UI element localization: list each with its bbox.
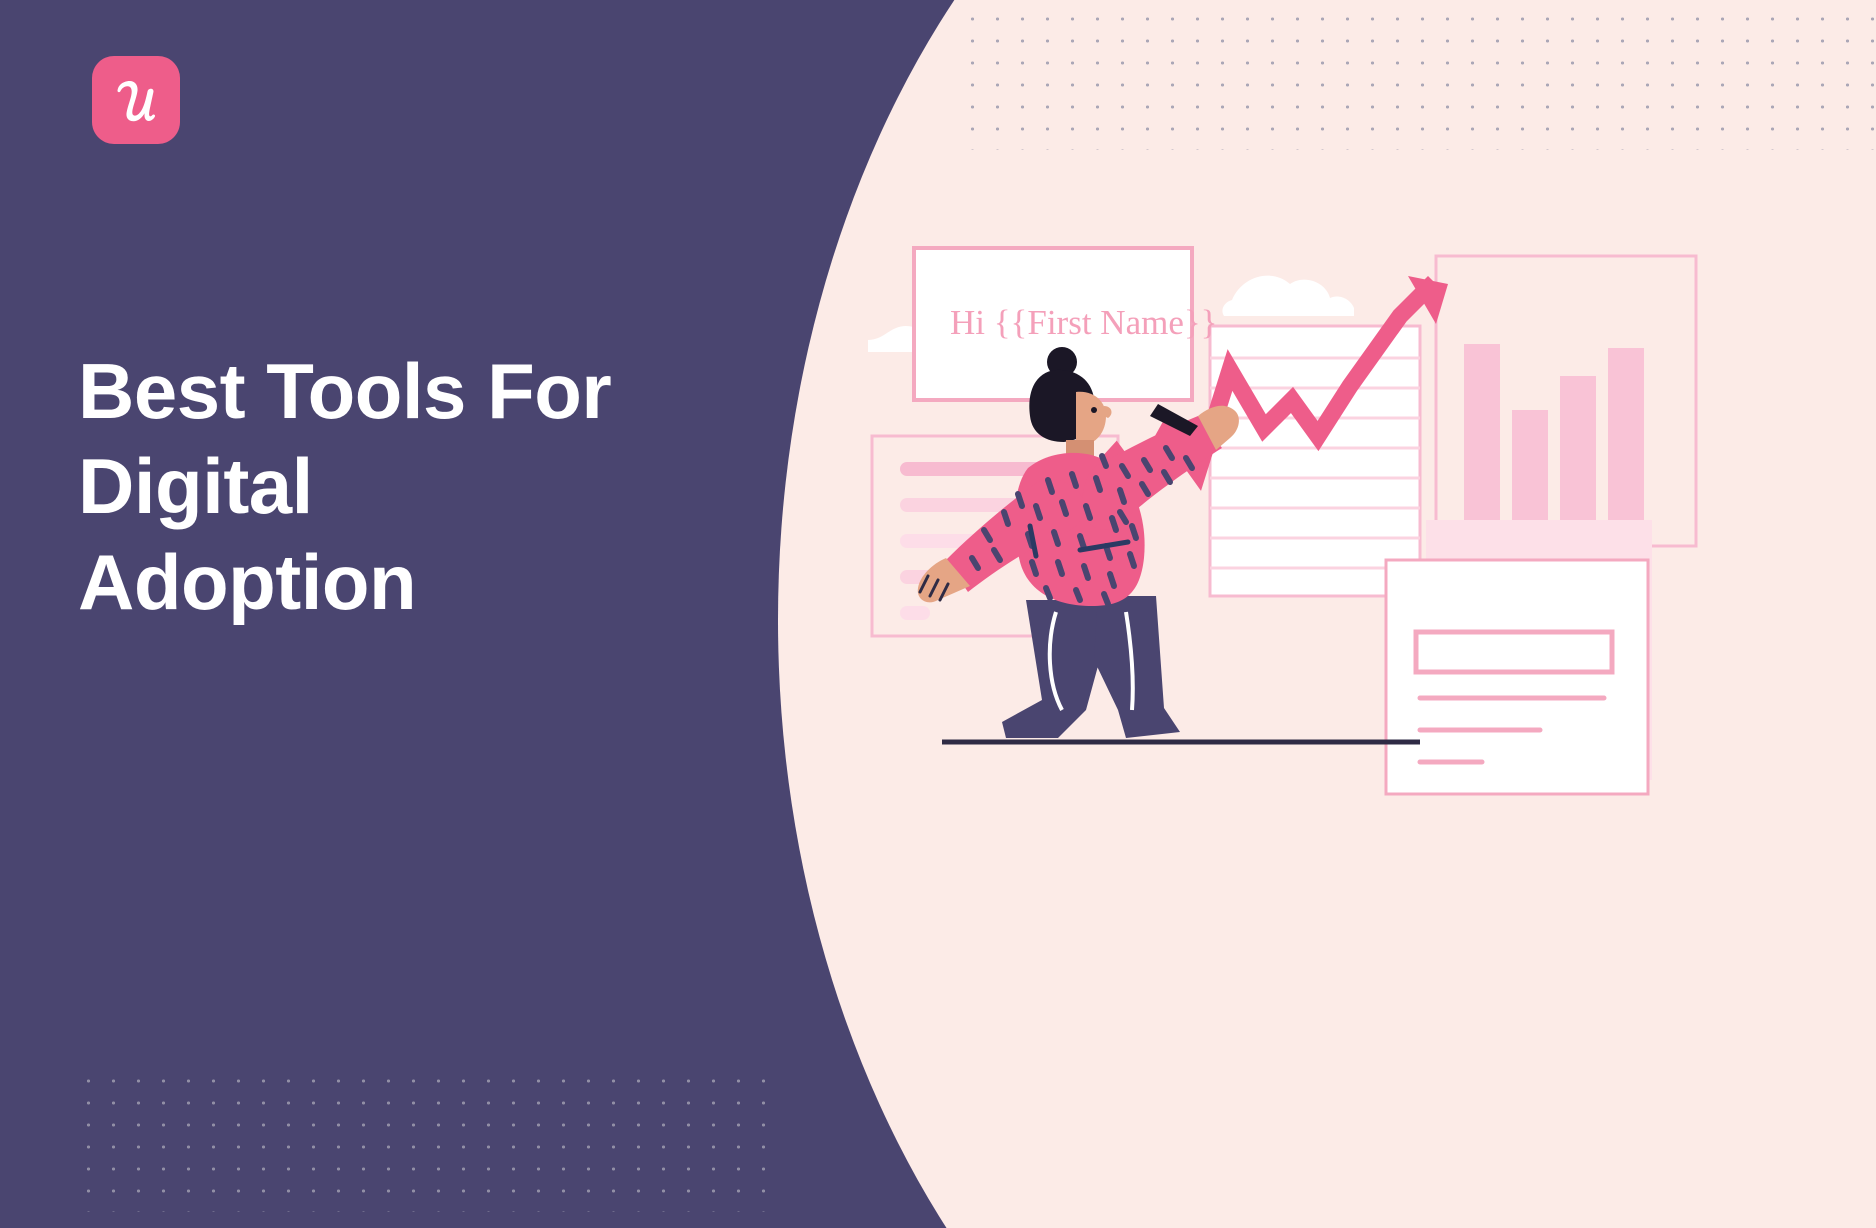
tooltip-text: Hi {{First Name}}: [950, 303, 1217, 342]
bar-chart-card: [1436, 256, 1696, 546]
form-input-box: [1416, 632, 1612, 672]
title-line-2: Digital: [78, 439, 718, 534]
page-title: Best Tools For Digital Adoption: [78, 344, 718, 629]
form-card: [1386, 520, 1652, 794]
bar-chart-bar-1: [1464, 344, 1500, 542]
checklist-bar-5: [900, 606, 930, 620]
userpilot-logo[interactable]: [92, 56, 180, 144]
eye: [1091, 407, 1097, 413]
digital-adoption-illustration: Hi {{First Name}}: [880, 240, 1580, 780]
title-line-3: Adoption: [78, 535, 718, 630]
bar-chart-bar-4: [1608, 348, 1644, 542]
lined-document-card: [1210, 326, 1420, 596]
person-front-leg: [1094, 596, 1180, 738]
nose: [1104, 406, 1111, 418]
poster-canvas: Best Tools For Digital Adoption: [0, 0, 1876, 1228]
person-walking: [918, 347, 1239, 738]
title-line-1: Best Tools For: [78, 344, 718, 439]
logo-u-glyph: [104, 68, 168, 132]
bar-chart-bar-3: [1560, 376, 1596, 542]
